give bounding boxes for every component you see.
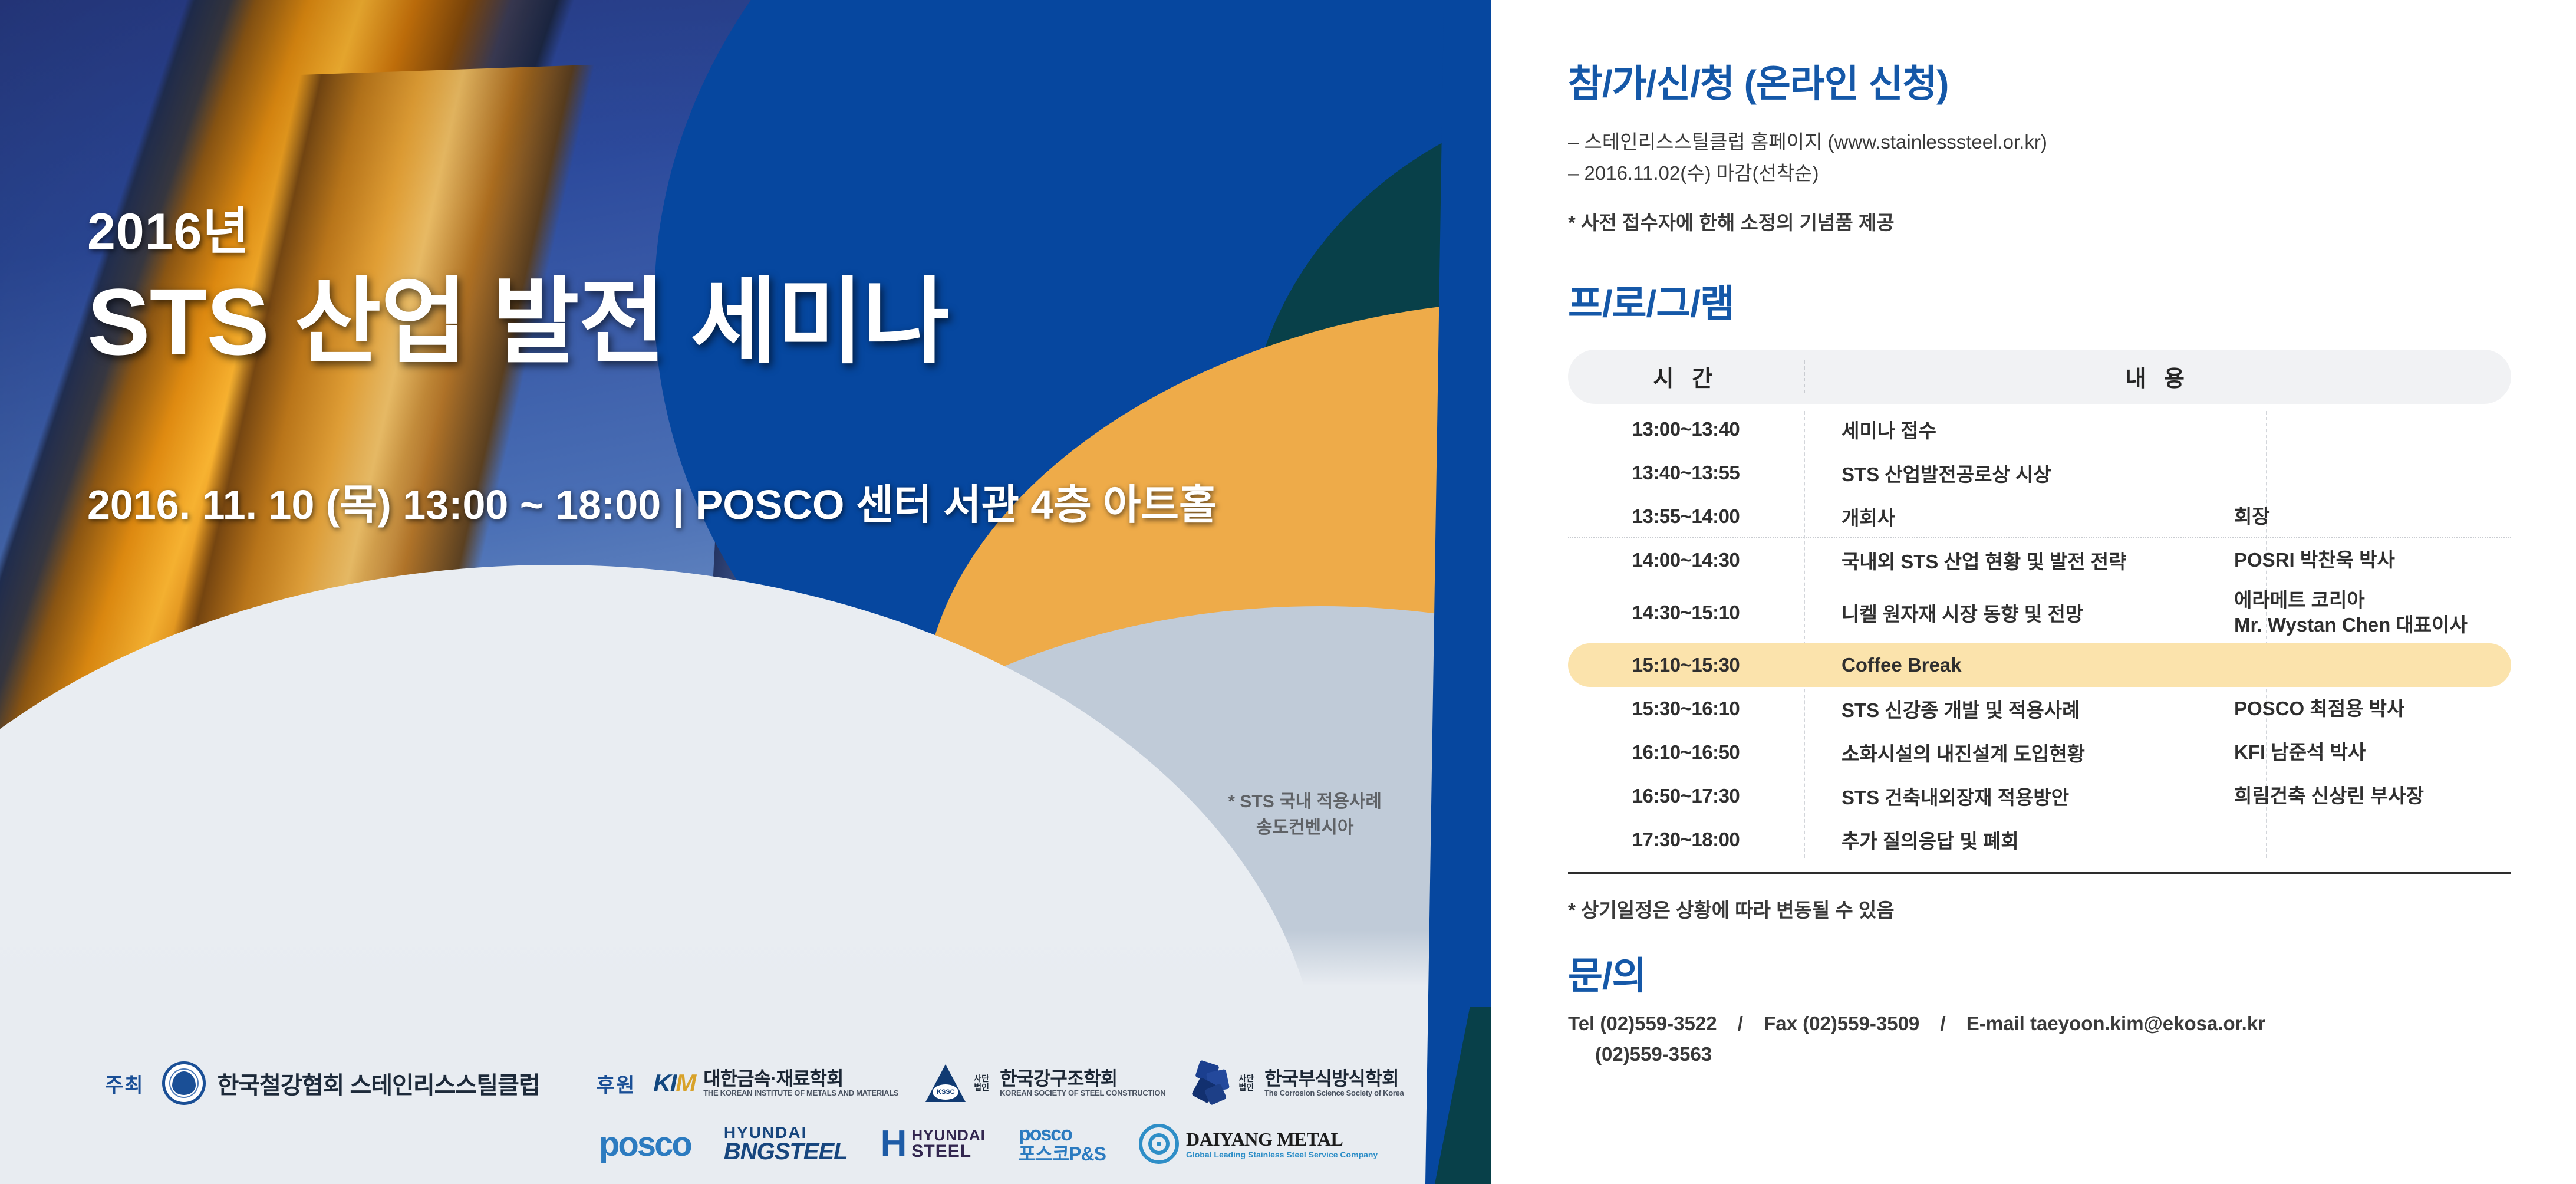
section-heading-apply: 참/가/신/청 (온라인 신청) — [1568, 65, 2511, 103]
row-speaker: POSCO 최점용 박사 — [2228, 696, 2505, 721]
photo-caption: * STS 국내 적용사례 송도컨벤시아 — [1228, 789, 1382, 840]
table-row: 14:30~15:10 니켈 원자재 시장 동향 및 전망 에라메트 코리아 M… — [1568, 582, 2511, 643]
left-visual-panel: 2016년 STS 산업 발전 세미나 2016. 11. 10 (목) 13:… — [0, 0, 1491, 1184]
poster-date-venue: 2016. 11. 10 (목) 13:00 ~ 18:00 | POSCO 센… — [87, 472, 1217, 531]
logo-area: 주최 한국철강협회 스테인리스스틸클럽 후원 KIM 대한금속·재료학회 THE… — [0, 1061, 1491, 1164]
host-label: 주최 — [105, 1069, 144, 1098]
column-header-content: 내 용 — [1805, 360, 2512, 393]
program-table-body: 13:00~13:40 세미나 접수 13:40~13:55 STS 산업발전공… — [1568, 407, 2511, 861]
contact-separator-1: / — [1722, 1012, 1758, 1034]
sponsor-label: 후원 — [597, 1069, 636, 1098]
contact-block: Tel (02)559-3522 / Fax (02)559-3509 / E-… — [1568, 1012, 2511, 1065]
row-topic: 니켈 원자재 시장 동향 및 전망 — [1804, 598, 2228, 627]
row-topic: 세미나 접수 — [1804, 415, 2228, 443]
table-row: 17:30~18:00 추가 질의응답 및 폐회 — [1568, 818, 2511, 861]
poster-year: 2016년 — [87, 206, 949, 257]
column-header-time: 시 간 — [1568, 360, 1804, 393]
hyundai-bng-steel-logo: HYUNDAI BNGSTEEL — [724, 1125, 848, 1163]
row-time: 13:40~13:55 — [1568, 462, 1804, 484]
program-table-bottom-rule — [1568, 872, 2511, 874]
sponsor-kssc: 사단법인 한국강구조학회 KOREAN SOCIETY OF STEEL CON… — [925, 1064, 1165, 1102]
fax-value: (02)559-3509 — [1803, 1012, 1919, 1034]
row-topic: 국내외 STS 산업 현황 및 발전 전략 — [1804, 546, 2228, 574]
host-name: 한국철강협회 스테인리스스틸클럽 — [218, 1066, 540, 1100]
posco-pns-bottom: 포스코P&S — [1019, 1144, 1106, 1164]
sponsor-kim-name-ko: 대한금속·재료학회 — [703, 1068, 898, 1089]
row-topic: 추가 질의응답 및 폐회 — [1804, 825, 2228, 854]
row-speaker: POSRI 박찬욱 박사 — [2228, 548, 2505, 573]
row-topic: STS 산업발전공로상 시상 — [1804, 459, 2228, 487]
program-table: 시 간 내 용 13:00~13:40 세미나 접수 13:40~13:55 S… — [1568, 350, 2511, 874]
posco-logo: posco — [599, 1124, 691, 1164]
row-speaker: 회장 — [2228, 504, 2505, 529]
hyundai-steel-top: HYUNDAI — [911, 1127, 985, 1143]
hyundai-steel-logo: H HYUNDAI STEEL — [881, 1127, 986, 1160]
row-topic: 개회사 — [1804, 502, 2228, 531]
sponsor-kssc-name-ko: 한국강구조학회 — [1000, 1068, 1165, 1089]
row-topic: Coffee Break — [1804, 654, 2228, 676]
table-row: 16:50~17:30 STS 건축내외장재 적용방안 희림건축 신상린 부사장 — [1568, 774, 2511, 818]
table-row: 16:10~16:50 소화시설의 내진설계 도입현황 KFI 남준석 박사 — [1568, 731, 2511, 774]
row-time: 13:00~13:40 — [1568, 418, 1804, 440]
apply-bullet-list: – 스테인리스스틸클럽 홈페이지 (www.stainlesssteel.or.… — [1568, 126, 2511, 189]
table-row: 13:00~13:40 세미나 접수 — [1568, 407, 2511, 451]
hyundai-steel-h-icon: H — [881, 1129, 907, 1159]
apply-note: * 사전 접수자에 한해 소정의 기념품 제공 — [1568, 207, 2511, 235]
cssk-logo-icon — [1193, 1061, 1230, 1105]
posco-pns-top: posco — [1019, 1124, 1106, 1144]
row-time: 14:30~15:10 — [1568, 601, 1804, 624]
sponsor-kssc-name-en: KOREAN SOCIETY OF STEEL CONSTRUCTION — [1000, 1089, 1165, 1097]
row-time: 15:30~16:10 — [1568, 698, 1804, 720]
row-topic: 소화시설의 내진설계 도입현황 — [1804, 738, 2228, 767]
tel-label: Tel — [1568, 1012, 1595, 1034]
kssc-corporation-badge: 사단법인 — [974, 1074, 989, 1091]
section-heading-program: 프/로/그/램 — [1568, 285, 2511, 323]
sponsor-kim-name-en: THE KOREAN INSTITUTE OF METALS AND MATER… — [703, 1089, 898, 1097]
fax-label: Fax — [1764, 1012, 1797, 1034]
contact-separator-2: / — [1925, 1012, 1961, 1034]
hyundai-bng-top: HYUNDAI — [724, 1125, 848, 1141]
kssc-logo-icon — [925, 1064, 966, 1102]
contact-line-primary: Tel (02)559-3522 / Fax (02)559-3509 / E-… — [1568, 1012, 2511, 1035]
kim-logo-icon: KIM — [653, 1069, 695, 1097]
apply-bullet-deadline: – 2016.11.02(수) 마감(선착순) — [1568, 157, 2511, 189]
tel-value: (02)559-3522 — [1600, 1012, 1717, 1034]
posco-pns-logo: posco 포스코P&S — [1019, 1124, 1106, 1163]
tel-secondary-value: (02)559-3563 — [1568, 1043, 2511, 1065]
row-time: 13:55~14:00 — [1568, 505, 1804, 528]
hyundai-steel-bottom: STEEL — [911, 1143, 985, 1160]
photo-caption-line-1: * STS 국내 적용사례 — [1228, 789, 1382, 815]
table-row: 13:55~14:00 개회사 회장 — [1568, 495, 2511, 538]
daiyang-target-icon — [1139, 1124, 1179, 1164]
page-title: STS 산업 발전 세미나 — [87, 272, 949, 371]
row-speaker: 에라메트 코리아 Mr. Wystan Chen 대표이사 — [2228, 588, 2505, 637]
row-time: 16:10~16:50 — [1568, 741, 1804, 764]
table-row: 13:40~13:55 STS 산업발전공로상 시상 — [1568, 451, 2511, 495]
daiyang-metal-logo: DAIYANG METAL Global Leading Stainless S… — [1139, 1124, 1378, 1164]
row-time: 14:00~14:30 — [1568, 549, 1804, 571]
seminar-poster: 2016년 STS 산업 발전 세미나 2016. 11. 10 (목) 13:… — [0, 0, 2576, 1184]
host-sponsor-row: 주최 한국철강협회 스테인리스스틸클럽 후원 KIM 대한금속·재료학회 THE… — [0, 1061, 1491, 1105]
program-note: * 상기일정은 상황에 따라 변동될 수 있음 — [1568, 894, 2511, 923]
hyundai-bng-bottom: BNGSTEEL — [724, 1140, 848, 1163]
section-heading-inquiry: 문/의 — [1568, 957, 2511, 995]
daiyang-metal-tagline: Global Leading Stainless Steel Service C… — [1186, 1150, 1378, 1159]
row-topic: STS 건축내외장재 적용방안 — [1804, 782, 2228, 810]
apply-bullet-website: – 스테인리스스틸클럽 홈페이지 (www.stainlesssteel.or.… — [1568, 126, 2511, 157]
program-table-header: 시 간 내 용 — [1568, 350, 2511, 404]
korea-iron-steel-association-icon — [162, 1061, 206, 1105]
row-time: 15:10~15:30 — [1568, 654, 1804, 676]
table-row: 14:00~14:30 국내외 STS 산업 현황 및 발전 전략 POSRI … — [1568, 538, 2511, 582]
poster-title-block: 2016년 STS 산업 발전 세미나 — [87, 206, 949, 371]
sponsor-cssk: 사단법인 한국부식방식학회 The Corrosion Science Soci… — [1193, 1061, 1404, 1105]
email-value[interactable]: taeyoon.kim@ekosa.or.kr — [2030, 1012, 2265, 1034]
row-time: 17:30~18:00 — [1568, 828, 1804, 851]
row-speaker: KFI 남준석 박사 — [2228, 740, 2505, 765]
email-label: E-mail — [1966, 1012, 2025, 1034]
row-time: 16:50~17:30 — [1568, 785, 1804, 807]
cssk-corporation-badge: 사단법인 — [1238, 1074, 1254, 1091]
sponsor-kim: KIM 대한금속·재료학회 THE KOREAN INSTITUTE OF ME… — [653, 1068, 898, 1097]
sponsor-cssk-name-ko: 한국부식방식학회 — [1264, 1068, 1404, 1089]
photo-caption-line-2: 송도컨벤시아 — [1228, 815, 1382, 841]
row-speaker: 희림건축 신상린 부사장 — [2228, 784, 2505, 808]
right-info-panel: 참/가/신/청 (온라인 신청) – 스테인리스스틸클럽 홈페이지 (www.s… — [1491, 0, 2576, 1184]
table-row: 15:30~16:10 STS 신강종 개발 및 적용사례 POSCO 최점용 … — [1568, 687, 2511, 731]
sponsor-cssk-name-en: The Corrosion Science Society of Korea — [1264, 1089, 1404, 1097]
row-topic: STS 신강종 개발 및 적용사례 — [1804, 695, 2228, 723]
partner-logo-row: posco HYUNDAI BNGSTEEL H HYUNDAI STEEL p… — [0, 1124, 1491, 1164]
daiyang-metal-name: DAIYANG METAL — [1186, 1129, 1378, 1150]
table-row-coffee-break: 15:10~15:30 Coffee Break — [1568, 643, 2511, 687]
